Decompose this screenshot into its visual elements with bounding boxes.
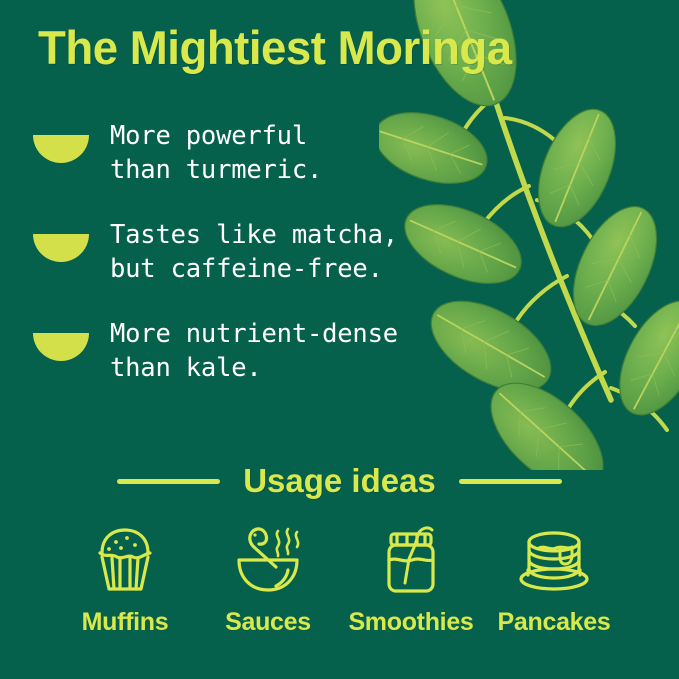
divider-rule-left xyxy=(117,479,220,484)
benefit-list: More powerful than turmeric. Tastes like… xyxy=(33,120,503,416)
page-title: The Mightiest Moringa xyxy=(38,24,512,71)
benefit-text: Tastes like matcha, but caffeine-free. xyxy=(110,219,503,287)
usage-idea-label: Pancakes xyxy=(498,608,611,637)
usage-ideas-heading: Usage ideas xyxy=(0,462,679,500)
usage-idea-sauces: Sauces xyxy=(197,520,340,637)
muffin-icon xyxy=(88,520,162,600)
usage-idea-smoothies: Smoothies xyxy=(340,520,483,637)
pancake-stack-icon xyxy=(517,520,591,600)
half-circle-bullet-icon xyxy=(33,135,89,163)
usage-idea-label: Muffins xyxy=(82,608,169,637)
usage-idea-label: Smoothies xyxy=(348,608,473,637)
list-item: More nutrient-dense than kale. xyxy=(33,318,503,386)
usage-idea-muffins: Muffins xyxy=(54,520,197,637)
benefit-text: More powerful than turmeric. xyxy=(110,120,503,188)
list-item: More powerful than turmeric. xyxy=(33,120,503,188)
half-circle-bullet-icon xyxy=(33,234,89,262)
usage-idea-pancakes: Pancakes xyxy=(483,520,626,637)
bowl-spoon-icon xyxy=(231,520,305,600)
benefit-text: More nutrient-dense than kale. xyxy=(110,318,503,386)
moringa-product-poster: The Mightiest Moringa More powerful than… xyxy=(0,0,679,679)
half-circle-bullet-icon xyxy=(33,333,89,361)
usage-ideas-list: Muffins Sauces xyxy=(0,520,679,637)
jar-straw-icon xyxy=(374,520,448,600)
list-item: Tastes like matcha, but caffeine-free. xyxy=(33,219,503,287)
divider-rule-right xyxy=(459,479,562,484)
usage-ideas-title: Usage ideas xyxy=(243,462,436,500)
usage-idea-label: Sauces xyxy=(225,608,311,637)
